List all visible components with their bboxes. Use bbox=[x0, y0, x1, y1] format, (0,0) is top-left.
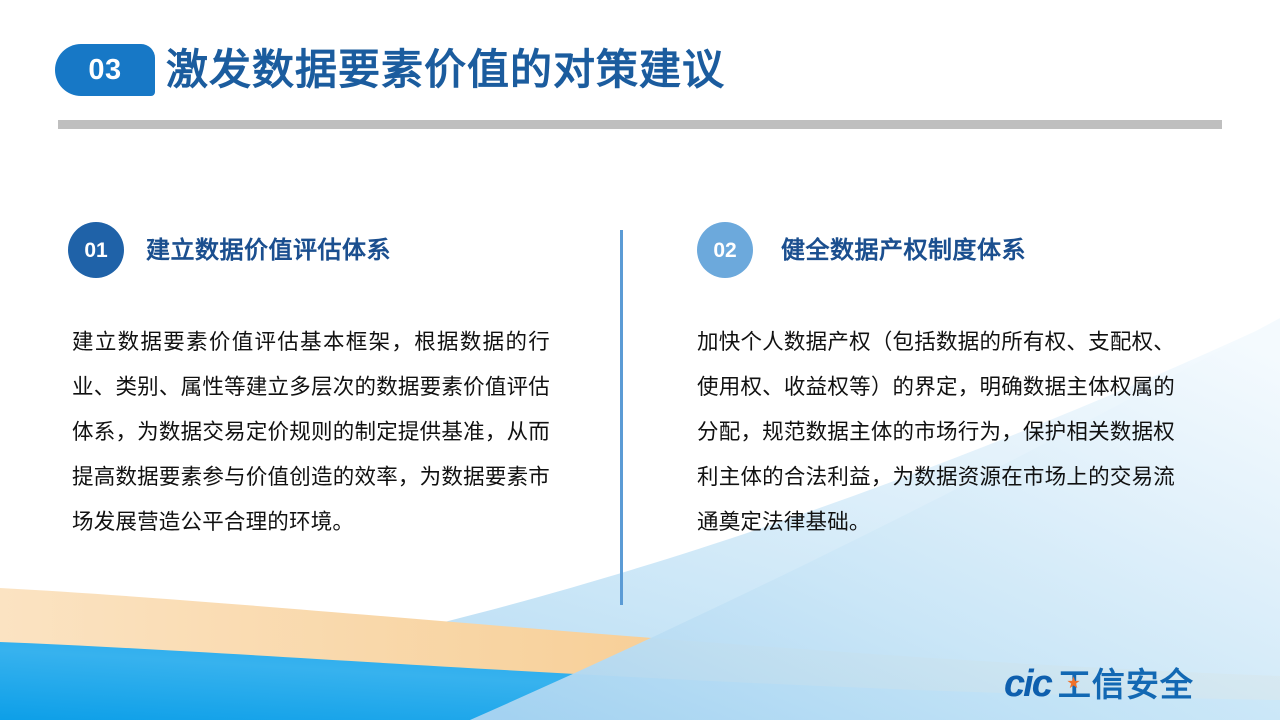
card-number-01: 01 bbox=[84, 240, 107, 261]
content-card-02: 02 健全数据产权制度体系 加快个人数据产权（包括数据的所有权、支配权、使用权、… bbox=[697, 200, 1197, 272]
logo-mark-icon: cic ★ bbox=[1004, 665, 1051, 703]
page-title: 激发数据要素价值的对策建议 bbox=[166, 41, 725, 99]
column-divider bbox=[620, 230, 623, 605]
card-title-01: 建立数据价值评估体系 bbox=[146, 236, 391, 266]
card-body-01: 建立数据要素价值评估基本框架，根据数据的行业、类别、属性等建立多层次的数据要素价… bbox=[72, 320, 550, 545]
card-number-circle-01: 01 bbox=[68, 222, 124, 278]
slide-header: 03 激发数据要素价值的对策建议 bbox=[0, 0, 1280, 140]
logo-wordmark: cic bbox=[1004, 665, 1051, 703]
card-header-02: 02 健全数据产权制度体系 bbox=[697, 200, 1197, 272]
card-title-02: 健全数据产权制度体系 bbox=[781, 236, 1026, 266]
section-number-badge: 03 bbox=[55, 44, 155, 96]
card-header-01: 01 建立数据价值评估体系 bbox=[68, 200, 568, 272]
header-divider-rule bbox=[58, 120, 1222, 129]
company-logo: cic ★ 工信安全 bbox=[1004, 662, 1194, 706]
card-number-02: 02 bbox=[713, 240, 736, 261]
card-number-circle-02: 02 bbox=[697, 222, 753, 278]
card-body-02: 加快个人数据产权（包括数据的所有权、支配权、使用权、收益权等）的界定，明确数据主… bbox=[697, 320, 1175, 545]
content-columns: 01 建立数据价值评估体系 建立数据要素价值评估基本框架，根据数据的行业、类别、… bbox=[0, 200, 1280, 640]
content-card-01: 01 建立数据价值评估体系 建立数据要素价值评估基本框架，根据数据的行业、类别、… bbox=[68, 200, 568, 272]
section-number: 03 bbox=[88, 56, 121, 85]
slide: 03 激发数据要素价值的对策建议 01 建立数据价值评估体系 建立数据要素价值评… bbox=[0, 0, 1280, 720]
star-icon: ★ bbox=[1066, 676, 1081, 691]
